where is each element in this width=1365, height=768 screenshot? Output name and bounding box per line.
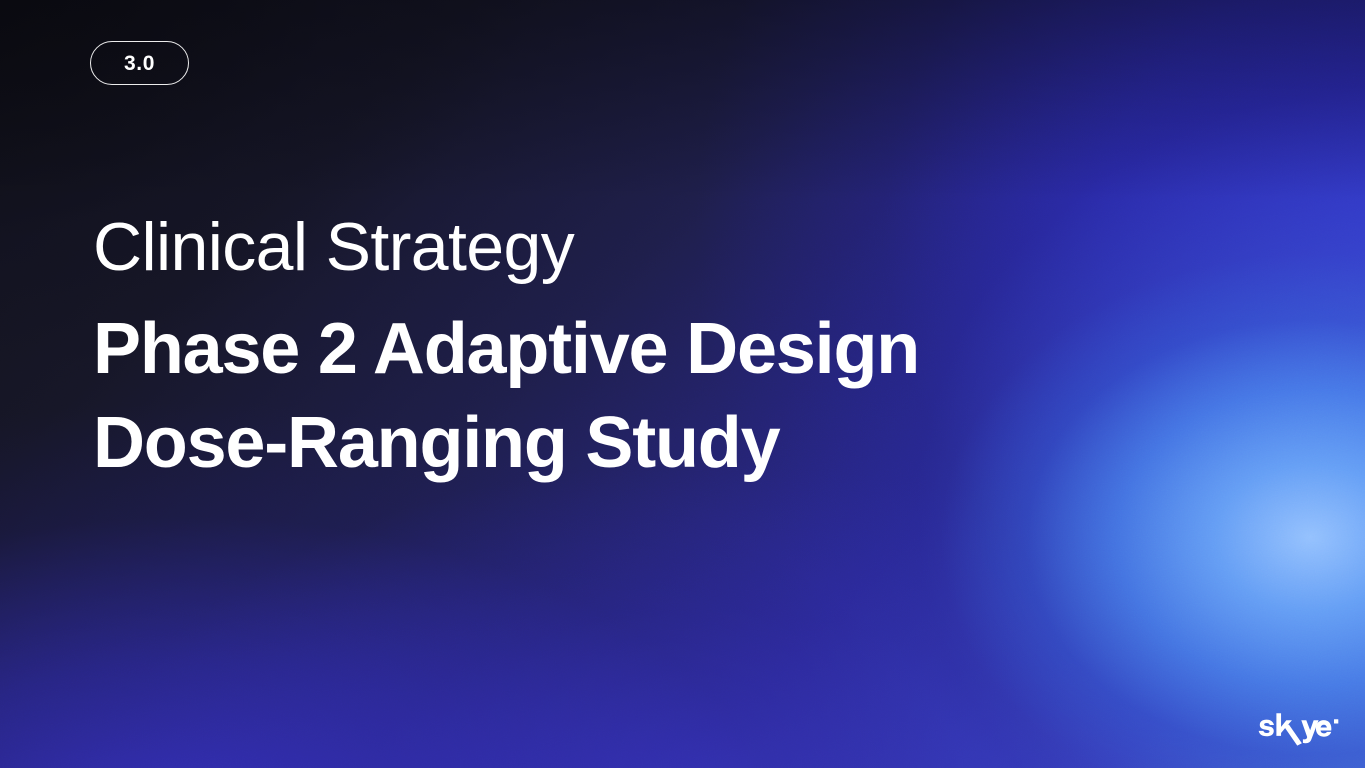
skye-logo [1258, 712, 1340, 746]
slide-content: 3.0 Clinical Strategy Phase 2 Adaptive D… [0, 0, 1365, 768]
slide-eyebrow-title: Clinical Strategy [93, 213, 1213, 281]
slide-headline: Phase 2 Adaptive Design Dose-Ranging Stu… [93, 303, 1213, 490]
title-block: Clinical Strategy Phase 2 Adaptive Desig… [93, 213, 1213, 490]
version-badge-label: 3.0 [124, 53, 155, 74]
version-badge: 3.0 [90, 41, 189, 85]
title-slide: 3.0 Clinical Strategy Phase 2 Adaptive D… [0, 0, 1365, 768]
headline-line-1: Phase 2 Adaptive Design [93, 303, 1213, 397]
headline-line-2: Dose-Ranging Study [93, 397, 1213, 491]
